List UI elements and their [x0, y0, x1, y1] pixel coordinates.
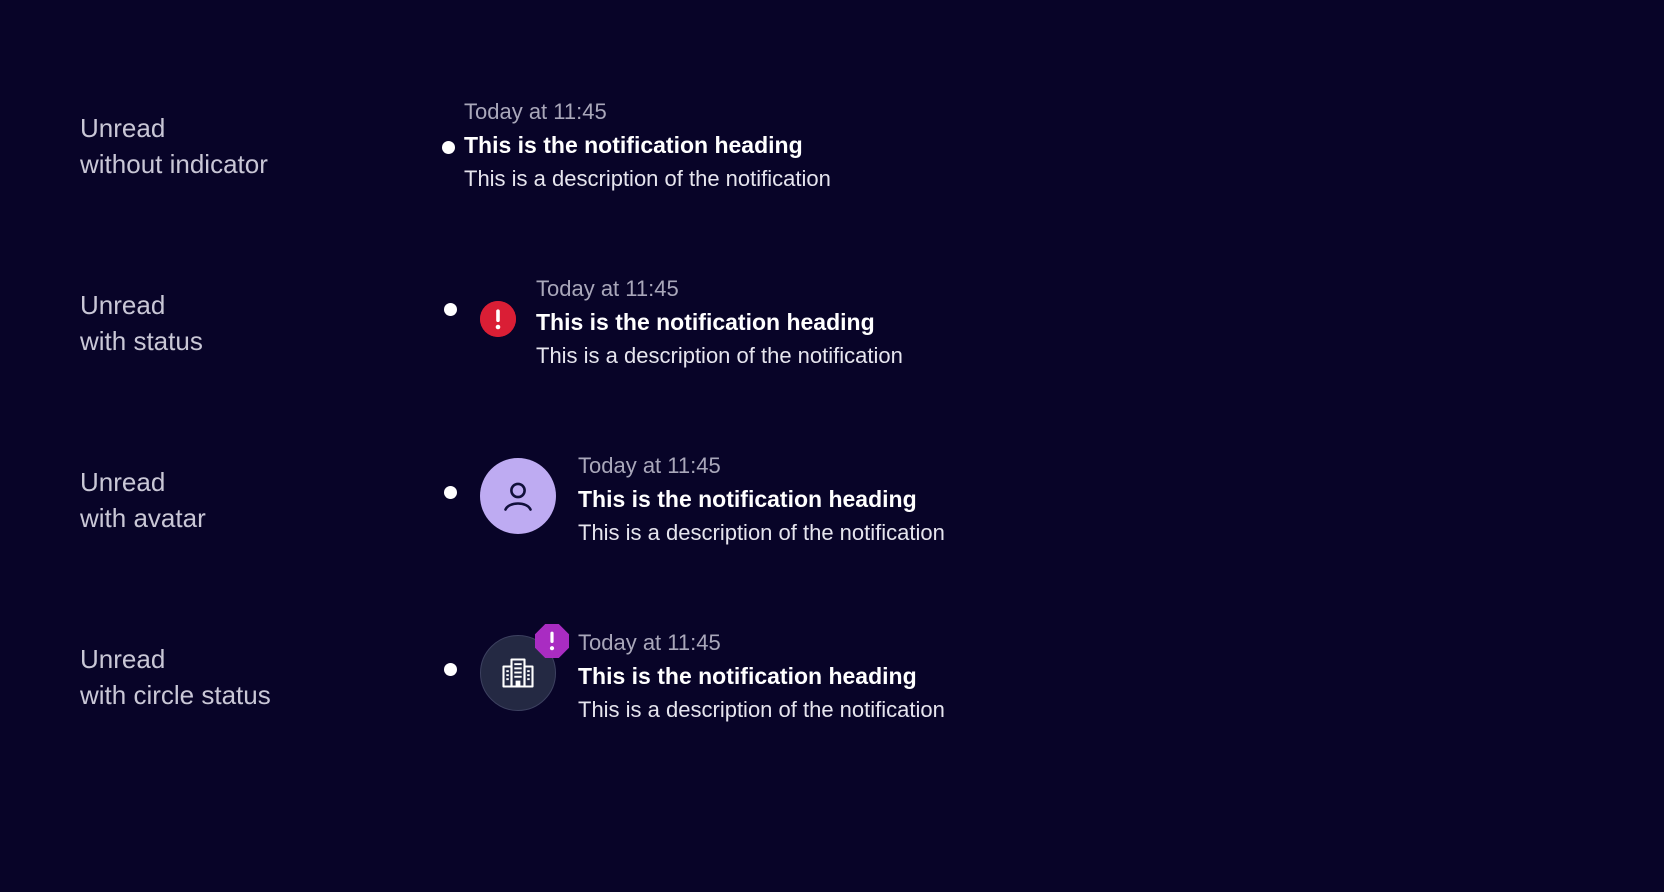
notification-description: This is a description of the notificatio…: [536, 339, 903, 373]
notification-variants-canvas: Unread without indicator Today at 11:45 …: [0, 0, 1664, 892]
notification-heading: This is the notification heading: [536, 305, 903, 339]
row-label-unread-with-circle-status: Unread with circle status: [0, 641, 420, 713]
spec-row-unread-with-circle-status: Unread with circle status: [0, 627, 1664, 727]
row-label-unread-with-status: Unread with status: [0, 287, 420, 359]
spec-row-unread-with-avatar: Unread with avatar Today at 11:45: [0, 450, 1664, 550]
unread-indicator-dot: [444, 303, 457, 316]
circle-status-slot: [480, 627, 556, 711]
notification-item[interactable]: Today at 11:45 This is the notification …: [444, 450, 945, 550]
notification-timestamp: Today at 11:45: [578, 450, 945, 482]
row-demo-unread-with-circle-status: Today at 11:45 This is the notification …: [420, 627, 1664, 727]
unread-indicator-slot: [444, 627, 480, 676]
spec-row-unread-without-indicator: Unread without indicator Today at 11:45 …: [0, 96, 1664, 196]
unread-indicator-dot: [444, 663, 457, 676]
row-demo-unread-without-indicator: Today at 11:45 This is the notification …: [420, 96, 1664, 196]
notification-heading: This is the notification heading: [578, 482, 945, 516]
notification-description: This is a description of the notificatio…: [464, 162, 831, 196]
avatar-slot: [480, 450, 556, 534]
unread-indicator-slot: [444, 273, 480, 309]
status-icon-slot: [480, 273, 516, 337]
error-circle-icon: [480, 301, 516, 337]
notification-text-block: Today at 11:45 This is the notification …: [536, 273, 903, 373]
notification-heading: This is the notification heading: [464, 128, 831, 162]
notification-heading: This is the notification heading: [578, 659, 945, 693]
octagon-warning-badge-icon: [534, 623, 570, 659]
row-demo-unread-with-avatar: Today at 11:45 This is the notification …: [420, 450, 1664, 550]
unread-indicator-dot: [442, 141, 455, 154]
unread-indicator-slot: [444, 450, 480, 499]
person-avatar-icon: [480, 458, 556, 534]
row-label-unread-without-indicator: Unread without indicator: [0, 110, 420, 182]
notification-item[interactable]: Today at 11:45 This is the notification …: [444, 627, 945, 727]
notification-text-block: Today at 11:45 This is the notification …: [578, 450, 945, 550]
notification-timestamp: Today at 11:45: [578, 627, 945, 659]
row-label-unread-with-avatar: Unread with avatar: [0, 464, 420, 536]
notification-text-block: Today at 11:45 This is the notification …: [578, 627, 945, 727]
notification-timestamp: Today at 11:45: [464, 96, 831, 128]
spec-row-unread-with-status: Unread with status T: [0, 273, 1664, 373]
notification-description: This is a description of the notificatio…: [578, 516, 945, 550]
notification-timestamp: Today at 11:45: [536, 273, 903, 305]
row-demo-unread-with-status: Today at 11:45 This is the notification …: [420, 273, 1664, 373]
unread-indicator-dot: [444, 486, 457, 499]
notification-description: This is a description of the notificatio…: [578, 693, 945, 727]
notification-item[interactable]: Today at 11:45 This is the notification …: [464, 96, 831, 196]
notification-item[interactable]: Today at 11:45 This is the notification …: [444, 273, 903, 373]
